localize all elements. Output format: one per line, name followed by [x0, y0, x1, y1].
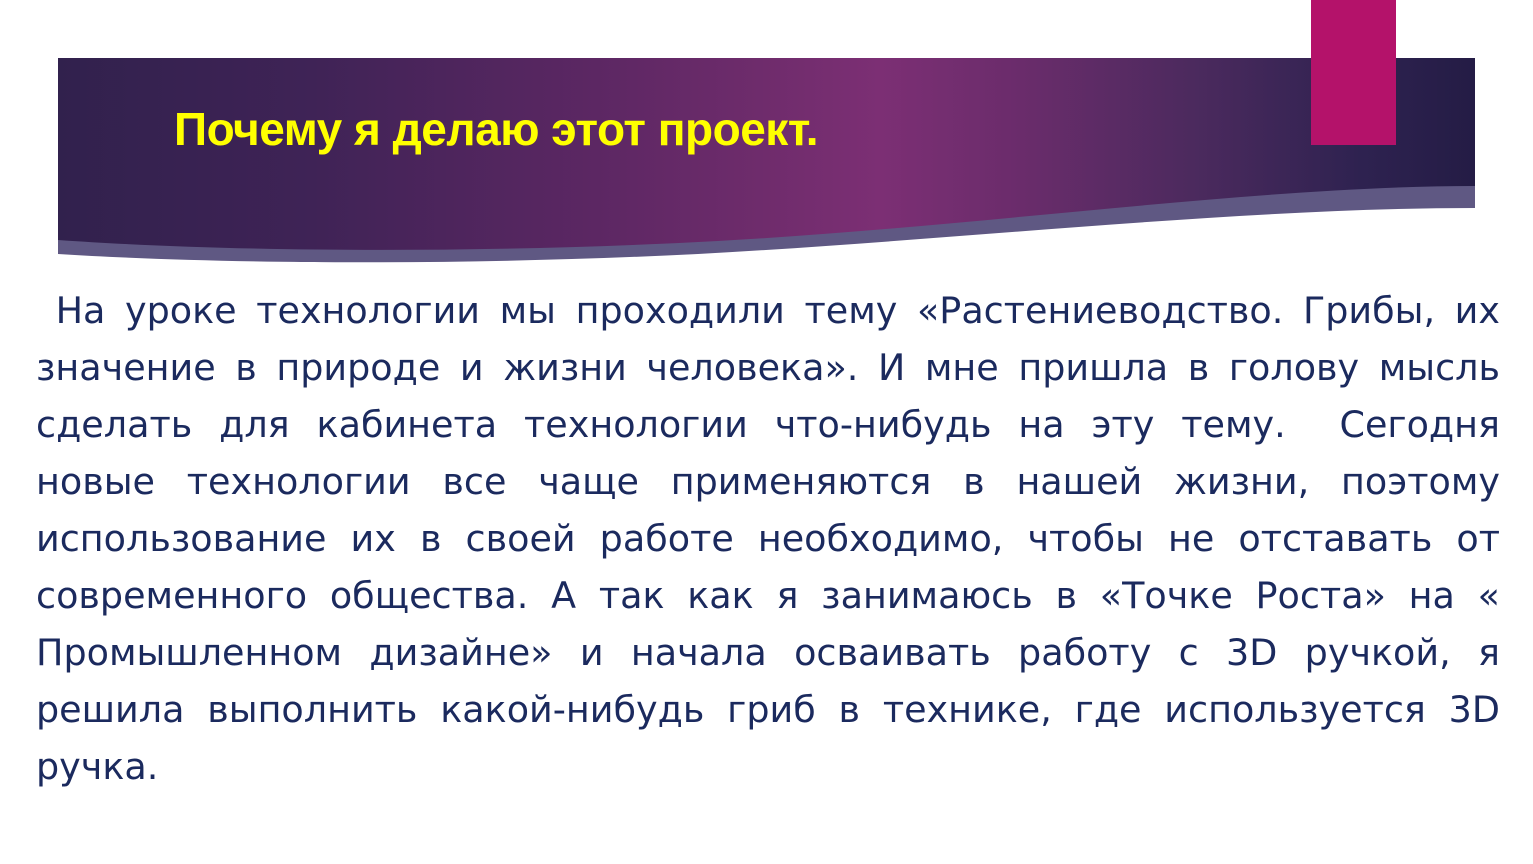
banner-shape — [58, 58, 1475, 254]
body-paragraph: На уроке технологии мы проходили тему «Р… — [36, 282, 1500, 852]
presentation-slide: Почему я делаю этот проект. На уроке тех… — [0, 0, 1533, 864]
body-text-block: На уроке технологии мы проходили тему «Р… — [36, 282, 1500, 852]
header-banner: Почему я делаю этот проект. — [58, 58, 1475, 254]
accent-block-magenta — [1311, 0, 1396, 145]
banner-main-shape — [58, 58, 1475, 250]
